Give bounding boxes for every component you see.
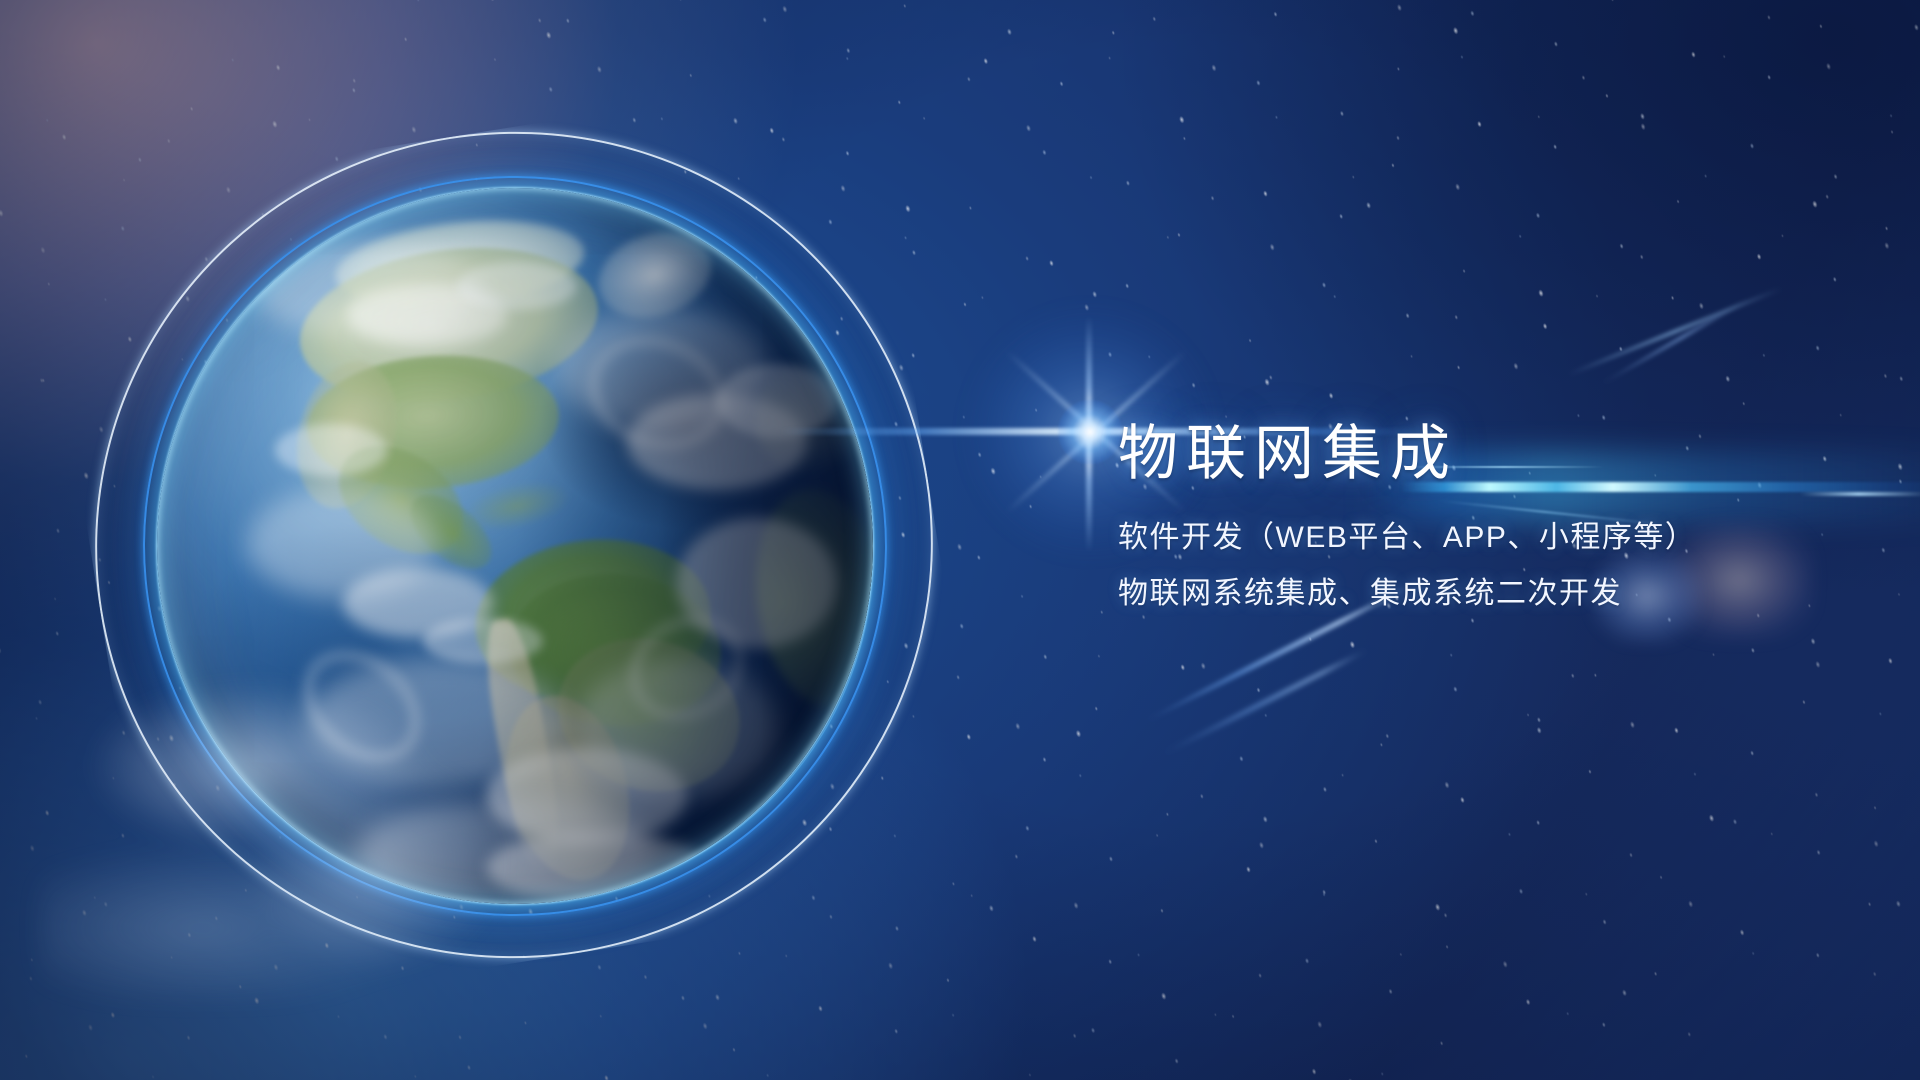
banner-text-block: 物联网集成 软件开发（WEB平台、APP、小程序等） 物联网系统集成、集成系统二… [1118, 418, 1858, 620]
globe-limb-highlight [157, 188, 873, 904]
earth-globe [157, 188, 873, 904]
subtitle-line-1: 软件开发（WEB平台、APP、小程序等） [1118, 512, 1858, 564]
subtitle-line-2: 物联网系统集成、集成系统二次开发 [1118, 568, 1858, 620]
page-title: 物联网集成 [1118, 418, 1858, 490]
banner-stage: 物联网集成 软件开发（WEB平台、APP、小程序等） 物联网系统集成、集成系统二… [0, 0, 1920, 1080]
globe-sphere [157, 188, 873, 904]
